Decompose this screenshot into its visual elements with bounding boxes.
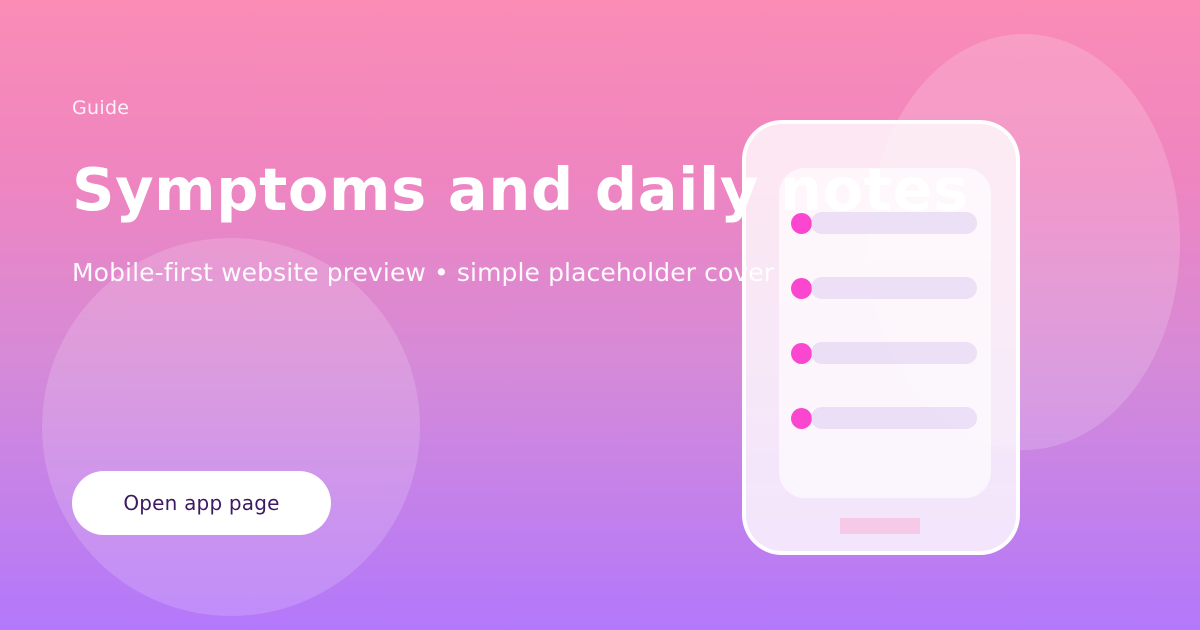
list-item[interactable]	[791, 277, 977, 299]
bullet-dot-icon	[791, 213, 812, 234]
placeholder-bar	[811, 212, 977, 234]
eyebrow-label: Guide	[72, 97, 129, 119]
list-item[interactable]	[791, 407, 977, 429]
phone-screen	[779, 168, 991, 498]
placeholder-bar	[811, 342, 977, 364]
page-subtitle: Mobile-first website preview • simple pl…	[72, 258, 774, 287]
list-item[interactable]	[791, 342, 977, 364]
bullet-dot-icon	[791, 343, 812, 364]
open-app-page-button[interactable]: Open app page	[72, 471, 331, 535]
list-item[interactable]	[791, 212, 977, 234]
phone-mockup	[742, 120, 1020, 555]
bullet-dot-icon	[791, 278, 812, 299]
bullet-dot-icon	[791, 408, 812, 429]
home-indicator	[840, 518, 920, 534]
placeholder-bar	[811, 407, 977, 429]
placeholder-bar	[811, 277, 977, 299]
